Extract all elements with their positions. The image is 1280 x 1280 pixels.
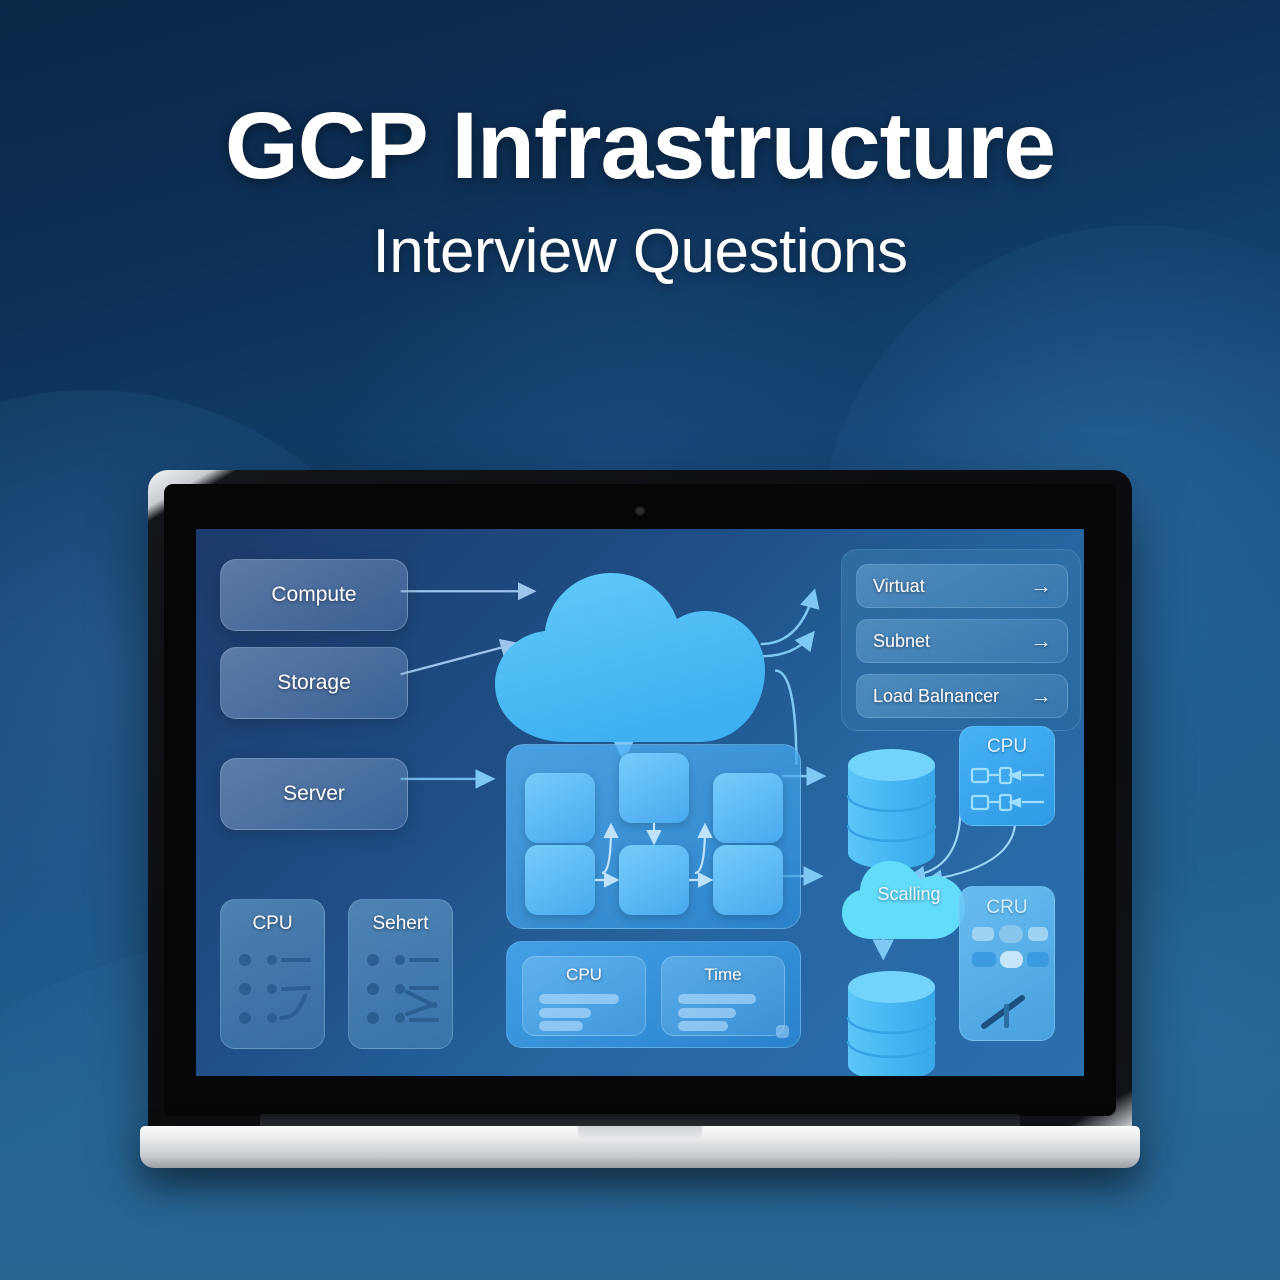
icon-card-sehert-label: Sehert: [349, 913, 452, 935]
panel-item-subnet[interactable]: Subnet →: [856, 619, 1068, 663]
architecture-diagram: Compute Storage Server: [196, 529, 1084, 1076]
panel-item-virtual[interactable]: Virtuat →: [856, 564, 1068, 608]
diagram-node-storage-label: Storage: [277, 671, 351, 695]
metric-card-time[interactable]: Time: [661, 956, 785, 1036]
trend-line-icon: [960, 982, 1056, 1037]
metric-card-cpu-label: CPU: [523, 965, 645, 985]
metrics-panel: CPU Time: [506, 941, 801, 1048]
server-rack-icon: [960, 763, 1056, 823]
metric-bar: [678, 1021, 728, 1031]
arrow-right-icon: →: [1030, 685, 1052, 707]
metric-bar: [678, 994, 756, 1004]
icon-card-cpu[interactable]: CPU: [220, 899, 325, 1049]
icon-card-sehert[interactable]: Sehert: [348, 899, 453, 1049]
grid-internal-connectors: [507, 745, 802, 930]
laptop-mockup: Compute Storage Server: [140, 470, 1140, 1190]
status-dot: [776, 1025, 789, 1038]
diagram-node-server-label: Server: [283, 782, 345, 806]
laptop-lid: Compute Storage Server: [148, 470, 1132, 1138]
scaling-cloud-label: Scalling: [839, 884, 979, 905]
cpu-card-top-label: CPU: [960, 736, 1054, 758]
chip-block: [972, 952, 996, 967]
chip-block: [999, 925, 1023, 943]
panel-item-load-balancer[interactable]: Load Balnancer →: [856, 674, 1068, 718]
icon-card-cpu-label: CPU: [221, 913, 324, 935]
network-options-panel: Virtuat → Subnet → Load Balnancer →: [841, 549, 1081, 731]
metric-card-cpu[interactable]: CPU: [522, 956, 646, 1036]
metric-card-time-label: Time: [662, 965, 784, 985]
cpu-card-bottom[interactable]: CRU: [959, 886, 1055, 1041]
metric-bar: [539, 994, 619, 1004]
node-graph-icon: [221, 944, 326, 1044]
chip-block: [1027, 952, 1049, 967]
chip-block: [1028, 927, 1048, 941]
metric-bar: [678, 1008, 736, 1018]
database-cylinder-bottom: [844, 969, 939, 1076]
laptop-base: [140, 1126, 1140, 1168]
header-block: GCP Infrastructure Interview Questions: [0, 95, 1280, 287]
laptop-base-notch: [578, 1126, 702, 1140]
chip-block: [972, 927, 994, 941]
diagram-node-storage[interactable]: Storage: [220, 647, 408, 719]
panel-item-load-balancer-label: Load Balnancer: [873, 686, 999, 707]
arrow-right-icon: →: [1030, 575, 1052, 597]
laptop-bezel: Compute Storage Server: [164, 484, 1116, 1116]
diagram-node-compute-label: Compute: [271, 583, 356, 607]
page-subtitle: Interview Questions: [0, 216, 1280, 287]
node-graph-icon: [349, 944, 454, 1044]
metric-bar: [539, 1021, 583, 1031]
diagram-node-compute[interactable]: Compute: [220, 559, 408, 631]
panel-item-subnet-label: Subnet: [873, 631, 930, 652]
chip-block: [1000, 951, 1023, 968]
page-title: GCP Infrastructure: [0, 95, 1280, 198]
laptop-screen: Compute Storage Server: [196, 529, 1084, 1076]
cloud-icon: [489, 556, 789, 746]
cpu-card-top[interactable]: CPU: [959, 726, 1055, 826]
diagram-node-server[interactable]: Server: [220, 758, 408, 830]
webcam-icon: [635, 506, 645, 516]
metric-bar: [539, 1008, 591, 1018]
panel-item-virtual-label: Virtuat: [873, 576, 925, 597]
microservices-grid: [506, 744, 801, 929]
arrow-right-icon: →: [1030, 630, 1052, 652]
